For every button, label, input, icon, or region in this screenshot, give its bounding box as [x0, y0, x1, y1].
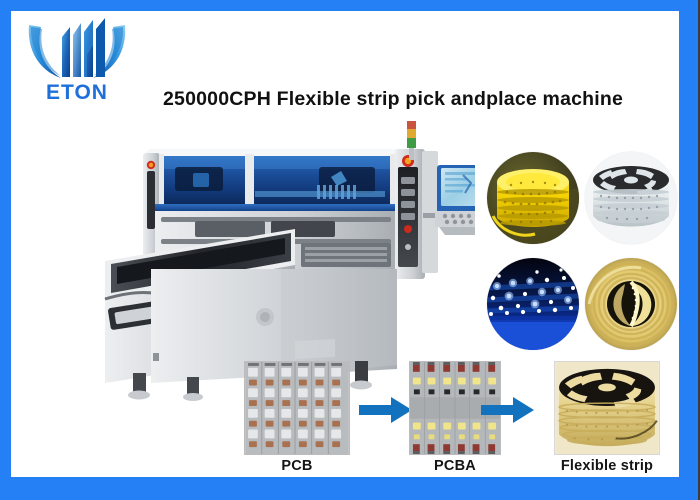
product-image-warm-white-led-strip-reel [585, 258, 677, 350]
warm-white-led-strip-reel-photo [585, 258, 677, 350]
product-image-white-led-strip-reel [585, 152, 677, 244]
headline-title: 250000CPH Flexible strip pick andplace m… [163, 88, 623, 111]
bare-pcb-panel-photo [244, 361, 350, 455]
brand-logo: ETON [21, 15, 133, 113]
flexible-led-strip-reel-photo [554, 361, 660, 455]
process-label-flexible-strip: Flexible strip [543, 458, 671, 474]
product-image-yellow-led-strip-reel [487, 152, 579, 244]
process-arrow-2 [481, 395, 535, 425]
content-panel: ETON 250000CPH Flexible strip pick andpl… [11, 11, 679, 477]
process-label-pcb: PCB [233, 458, 361, 474]
eton-wing-logo-icon [21, 15, 133, 87]
blue-led-strip-lit-photo [487, 258, 579, 350]
process-step-pcb: PCB [233, 361, 361, 474]
product-banner: ETON 250000CPH Flexible strip pick andpl… [0, 0, 700, 500]
yellow-led-strip-reel-photo [487, 152, 579, 244]
process-flow: PCB [11, 359, 679, 477]
brand-logo-text: ETON [21, 81, 133, 105]
operator-touchscreen-monitor [435, 165, 475, 235]
process-label-pcba: PCBA [391, 458, 519, 474]
process-step-flexible-strip: Flexible strip [543, 361, 671, 474]
arrow-right-icon [481, 395, 535, 425]
product-image-blue-led-strip [487, 258, 579, 350]
white-led-strip-reel-photo [585, 152, 677, 244]
